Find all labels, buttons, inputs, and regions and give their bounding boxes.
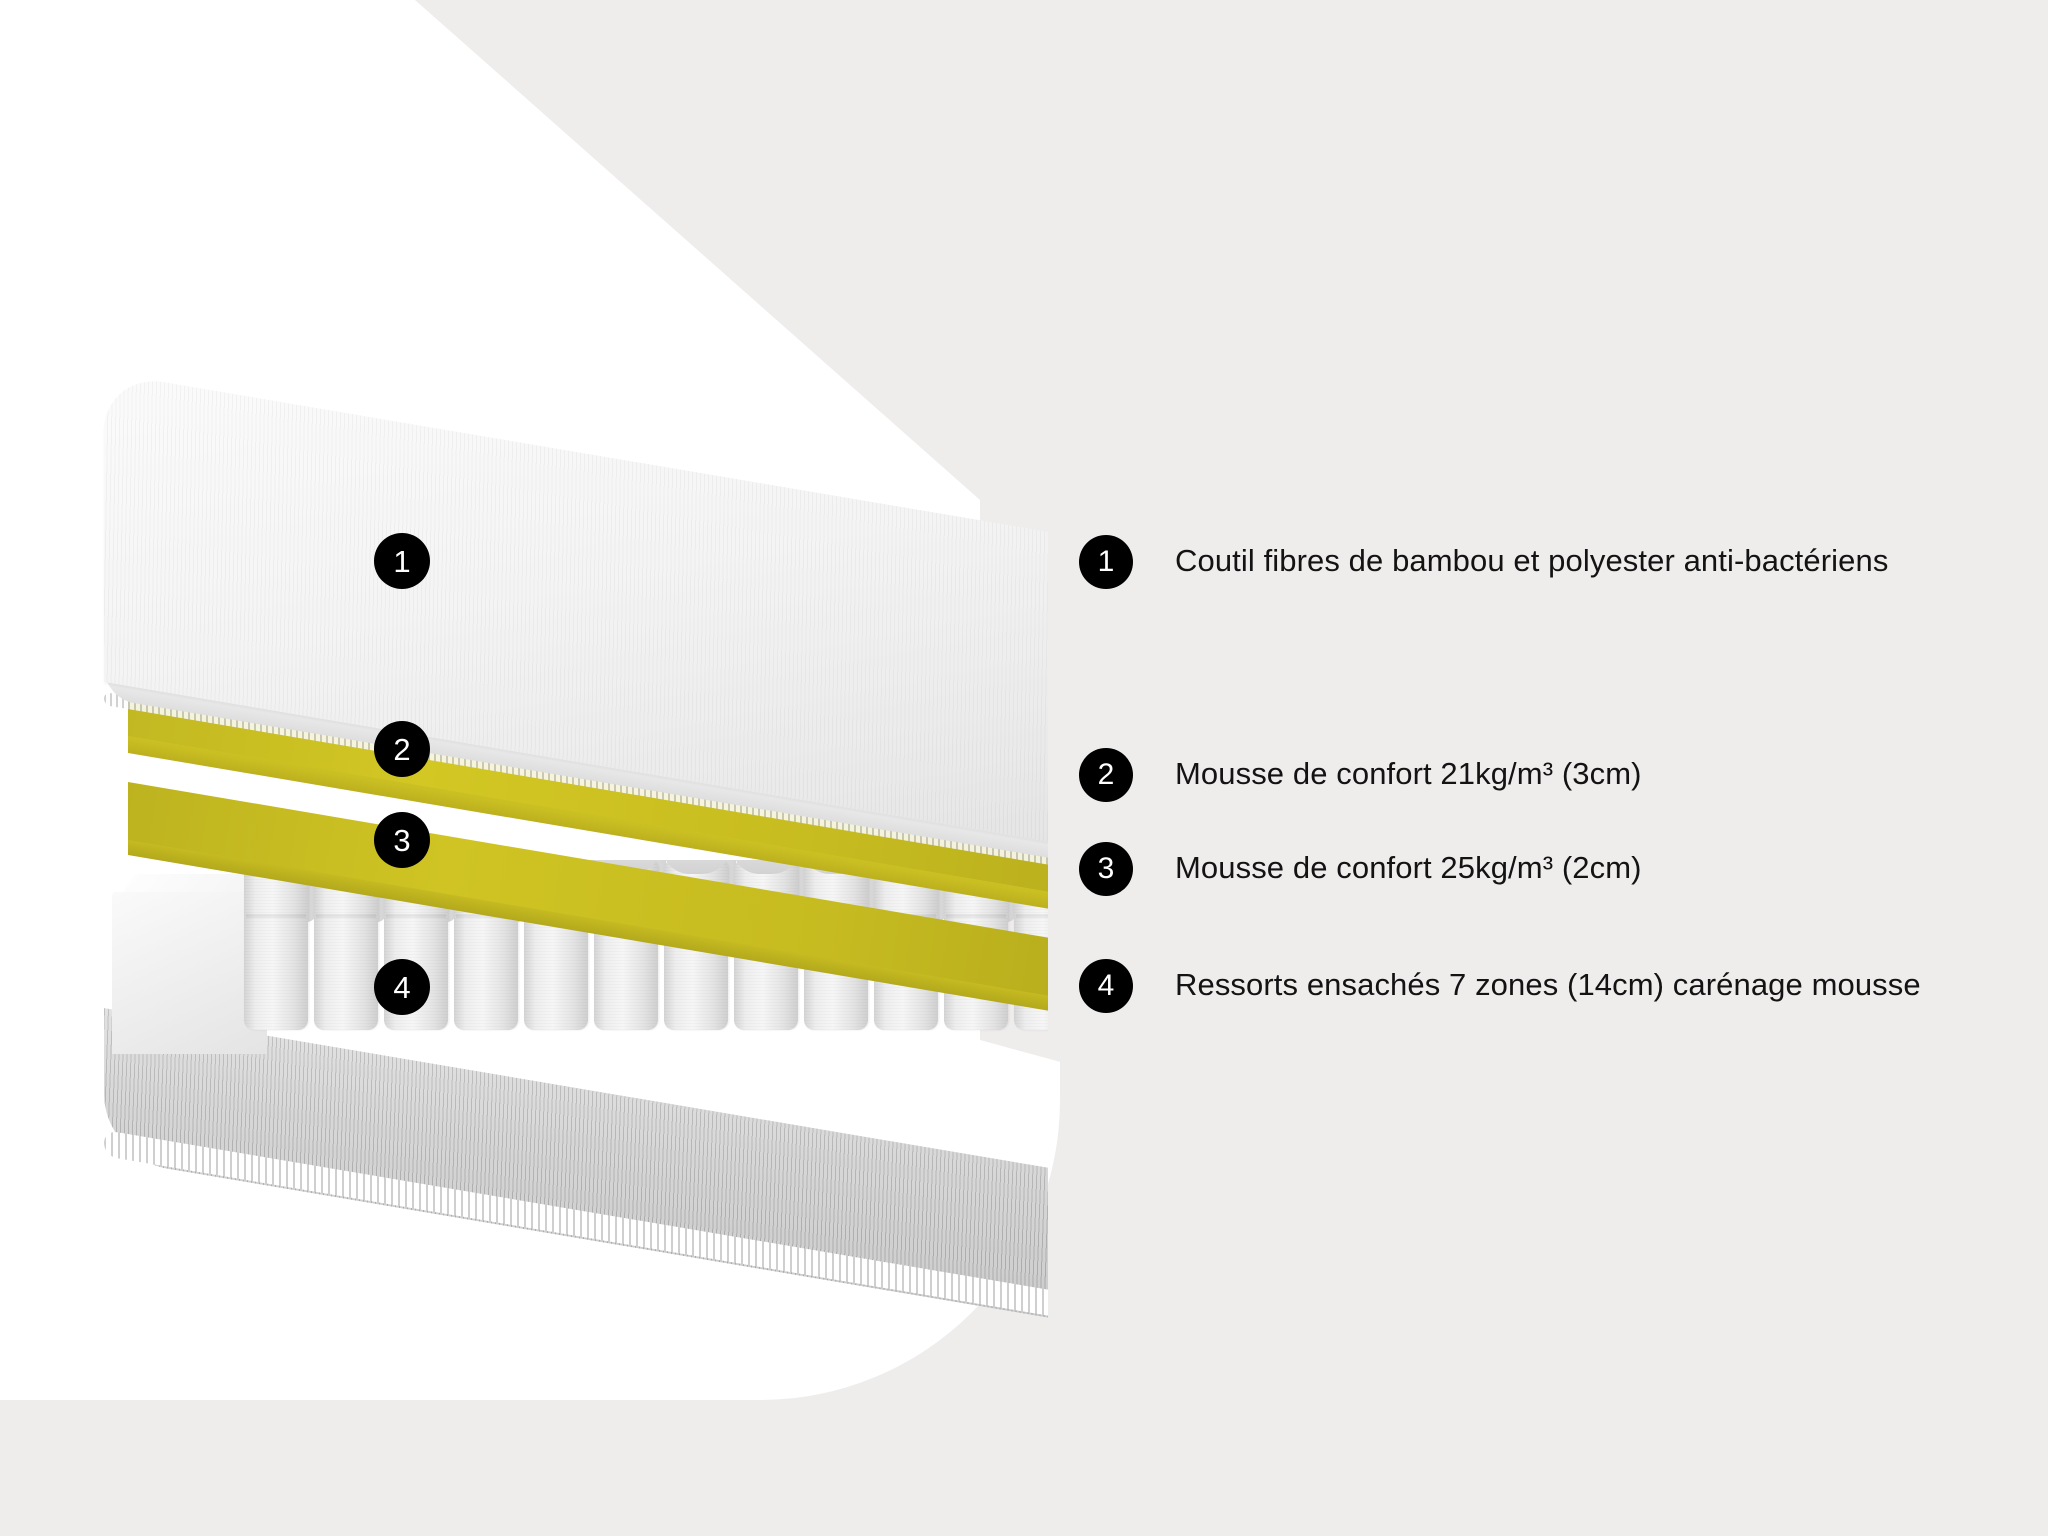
legend-badge-3: 3: [1079, 842, 1133, 896]
image-badge-4[interactable]: 4: [374, 959, 430, 1015]
legend-item-3[interactable]: 3 Mousse de confort 25kg/m³ (2cm): [1079, 842, 1642, 896]
legend-list: 1 Coutil fibres de bambou et polyester a…: [1079, 0, 1979, 1536]
legend-label-4: Ressorts ensachés 7 zones (14cm) carénag…: [1175, 959, 1921, 1008]
legend-item-1[interactable]: 1 Coutil fibres de bambou et polyester a…: [1079, 535, 1888, 589]
legend-label-2: Mousse de confort 21kg/m³ (3cm): [1175, 748, 1642, 797]
product-layer-diagram: 1 2 3 4 1 Coutil fibres de bambou et pol…: [0, 0, 2048, 1536]
image-badge-3[interactable]: 3: [374, 812, 430, 868]
mattress-illustration: 1 2 3 4: [0, 0, 1048, 1536]
legend-item-2[interactable]: 2 Mousse de confort 21kg/m³ (3cm): [1079, 748, 1642, 802]
legend-label-3: Mousse de confort 25kg/m³ (2cm): [1175, 842, 1642, 891]
legend-item-4[interactable]: 4 Ressorts ensachés 7 zones (14cm) carén…: [1079, 959, 1921, 1013]
legend-badge-2: 2: [1079, 748, 1133, 802]
legend-badge-4: 4: [1079, 959, 1133, 1013]
image-badge-2[interactable]: 2: [374, 721, 430, 777]
legend-badge-1: 1: [1079, 535, 1133, 589]
legend-label-1: Coutil fibres de bambou et polyester ant…: [1175, 535, 1888, 584]
image-badge-1[interactable]: 1: [374, 533, 430, 589]
